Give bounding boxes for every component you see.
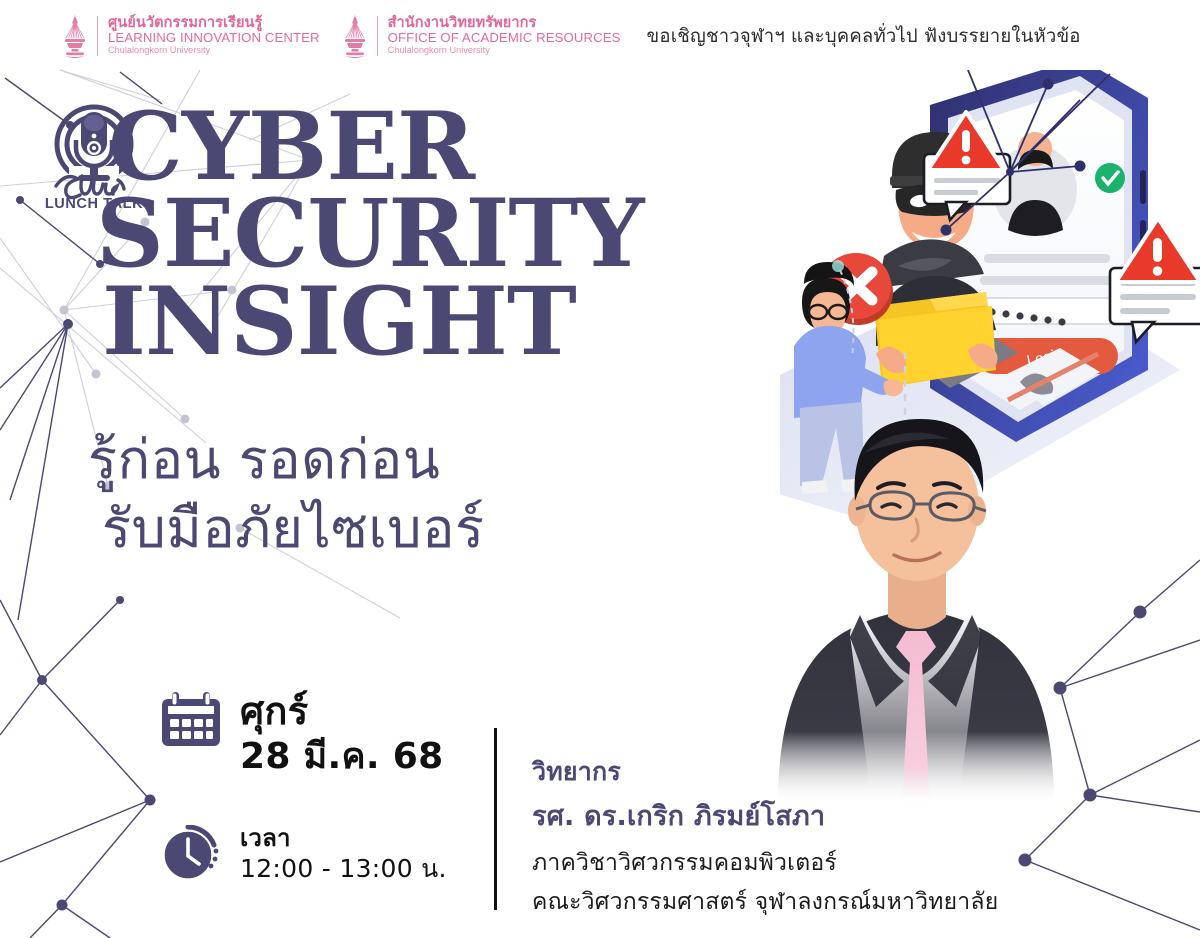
event-details: ศุกร์ 28 มี.ค. 68 เวลา 12:00 - 13:00 น. (160, 690, 447, 883)
time-row: เวลา 12:00 - 13:00 น. (160, 825, 447, 883)
event-date-value: 28 มี.ค. 68 (240, 737, 443, 777)
subtitle-line-1: รู้ก่อน รอดก่อน (88, 425, 485, 494)
event-time-value: 12:00 - 13:00 น. (240, 855, 447, 883)
logo-divider (97, 16, 98, 56)
chula-emblem-icon (62, 12, 88, 60)
subtitle-line-2: รับมือภัยไซเบอร์ (102, 494, 485, 563)
speaker-portrait (760, 385, 1070, 805)
header-logos: ศูนย์นวัตกรรมการเรียนรู้ LEARNING INNOVA… (0, 0, 1200, 72)
logo-title-th: สำนักงานวิทยทรัพยากร (388, 16, 621, 32)
logo-divider (377, 16, 378, 56)
logo-title-en: OFFICE OF ACADEMIC RESOURCES (388, 31, 621, 45)
logo-title-th: ศูนย์นวัตกรรมการเรียนรู้ (108, 16, 320, 32)
poster-title: CYBER SECURITY INSIGHT (108, 104, 643, 366)
logo-university: Chulalongkorn University (388, 46, 621, 56)
chula-lunch-talk-logo: LUNCH TALK (34, 96, 154, 214)
logo-office-academic-resources: สำนักงานวิทยทรัพยากร OFFICE OF ACADEMIC … (342, 12, 621, 60)
speaker-label: วิทยากร (532, 752, 998, 792)
clock-icon (160, 825, 222, 883)
event-time-label: เวลา (240, 825, 447, 852)
verified-check-icon (1095, 163, 1125, 193)
speaker-department: ภาควิชาวิศวกรรมคอมพิวเตอร์ (532, 845, 998, 881)
invitation-text: ขอเชิญชาวจุฬาฯ และบุคคลทั่วไป ฟังบรรยายใ… (647, 22, 1081, 51)
speaker-details: วิทยากร รศ. ดร.เกริก ภิรมย์โสภา ภาควิชาว… (532, 752, 998, 920)
title-line-3: INSIGHT (102, 279, 643, 366)
section-divider (494, 728, 497, 910)
chula-emblem-icon (342, 12, 368, 60)
date-row: ศุกร์ 28 มี.ค. 68 (160, 690, 447, 777)
poster-subtitle: รู้ก่อน รอดก่อน รับมือภัยไซเบอร์ (88, 425, 485, 563)
calendar-icon (160, 690, 222, 748)
title-line-2: SECURITY (96, 191, 643, 278)
speaker-faculty: คณะวิศวกรรมศาสตร์ จุฬาลงกรณ์มหาวิทยาลัย (532, 884, 998, 920)
bubble-dot (832, 260, 844, 272)
logo-title-en: LEARNING INNOVATION CENTER (108, 31, 320, 45)
poster-canvas: ศูนย์นวัตกรรมการเรียนรู้ LEARNING INNOVA… (0, 0, 1200, 938)
title-line-1: CYBER (108, 104, 643, 191)
brand-tagline: LUNCH TALK (45, 196, 143, 212)
logo-learning-innovation-center: ศูนย์นวัตกรรมการเรียนรู้ LEARNING INNOVA… (62, 12, 320, 60)
logo-university: Chulalongkorn University (108, 46, 320, 56)
event-date-day: ศุกร์ (240, 690, 443, 733)
speaker-name: รศ. ดร.เกริก ภิรมย์โสภา (532, 794, 998, 837)
